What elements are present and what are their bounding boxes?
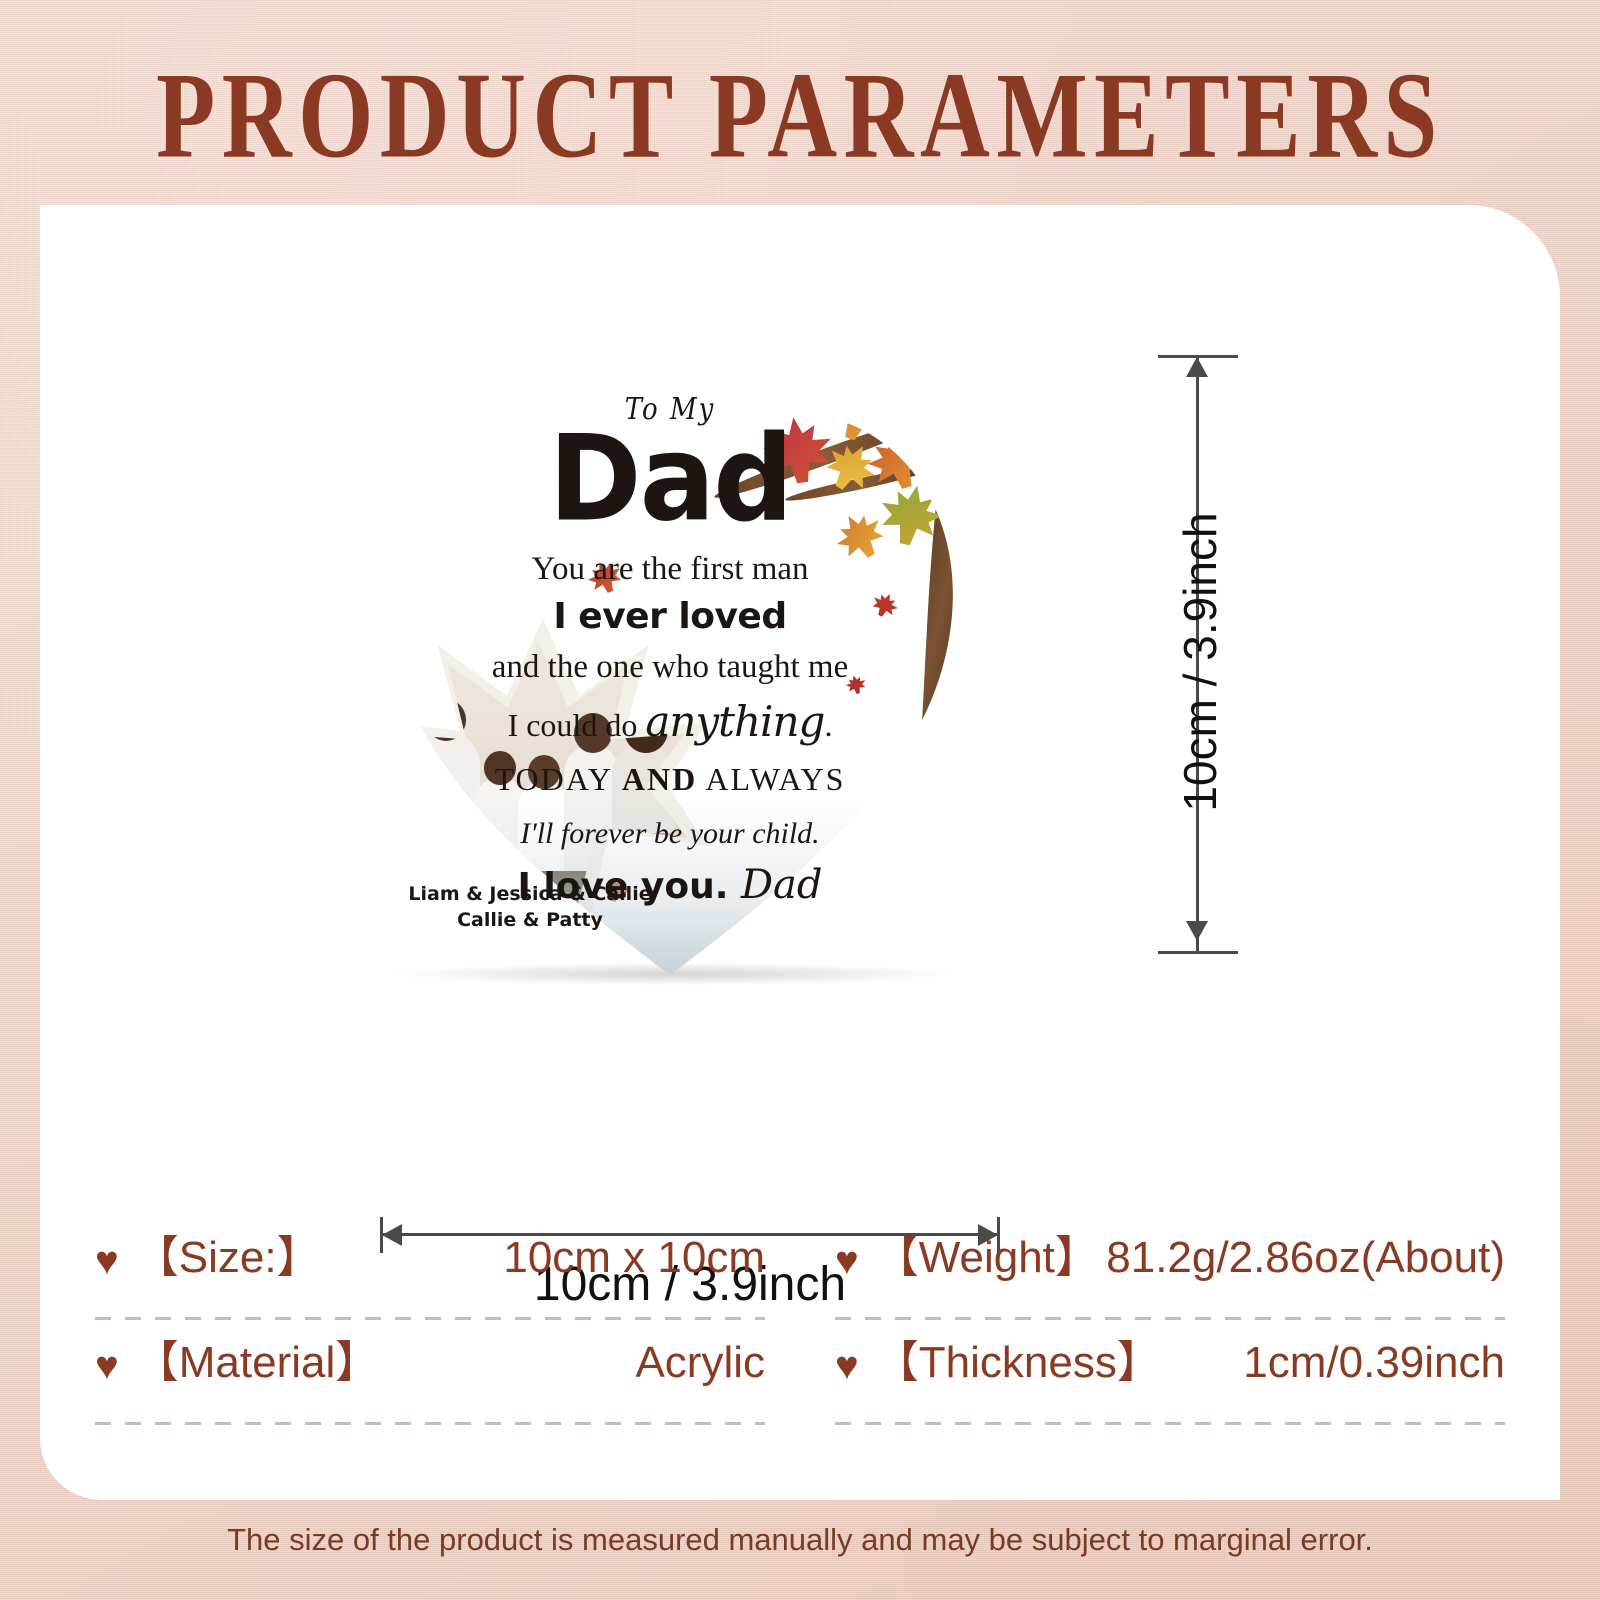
heart-acrylic-plaque: To My Dad You are the first man I ever l… [360, 335, 980, 975]
spec-row: ♥ 【Weight】 81.2g/2.86oz(About) [835, 1221, 1505, 1317]
spec-row: ♥ 【Material】 Acrylic [95, 1326, 765, 1422]
product-stage: To My Dad You are the first man I ever l… [40, 205, 1560, 1105]
spec-cell-material: ♥ 【Material】 Acrylic [95, 1320, 765, 1425]
heart-icon: ♥ [95, 1241, 119, 1281]
plaque-line-5-b: AND [622, 761, 697, 797]
page-title: PRODUCT PARAMETERS [56, 55, 1544, 178]
height-arrow-down-icon [1186, 921, 1208, 941]
plaque-line-5-c: ALWAYS [697, 761, 845, 797]
plaque-names-line-1: Liam & Jessica & Callie [380, 883, 680, 905]
spec-value: Acrylic [635, 1338, 765, 1388]
plaque-line-6: I'll forever be your child. [360, 819, 980, 849]
plaque-line-3: and the one who taught me [360, 651, 980, 684]
spec-divider [835, 1422, 1505, 1425]
spec-cell-thickness: ♥ 【Thickness】 1cm/0.39inch [835, 1320, 1505, 1425]
spec-key: 【Thickness】 [875, 1326, 1161, 1390]
plaque-line-4-prefix: I could do [508, 707, 646, 743]
plaque-line-4: I could do anything. [360, 701, 980, 743]
spec-value: 1cm/0.39inch [1243, 1338, 1505, 1388]
height-label: 10cm / 3.9inch [1173, 412, 1227, 912]
plaque-line-4-suffix: . [824, 707, 832, 743]
specification-table: ♥ 【Size:】 10cm x 10cm ♥ 【Weight】 81.2g/2… [95, 1215, 1505, 1425]
heart-icon: ♥ [835, 1346, 859, 1386]
plaque-line-2: I ever loved [360, 599, 980, 635]
plaque-line-4-script: anything [645, 697, 824, 746]
spec-cell-size: ♥ 【Size:】 10cm x 10cm [95, 1215, 765, 1320]
heart-icon: ♥ [95, 1346, 119, 1386]
spec-value: 81.2g/2.86oz(About) [1106, 1233, 1505, 1283]
plaque-signature: Dad [741, 862, 823, 908]
heart-icon: ♥ [835, 1241, 859, 1281]
spec-row: ♥ 【Size:】 10cm x 10cm [95, 1221, 765, 1317]
spec-key: 【Size:】 [135, 1221, 321, 1285]
plaque-line-5-a: TODAY [495, 761, 622, 797]
spec-key: 【Weight】 [875, 1221, 1099, 1285]
plaque-line-1: You are the first man [360, 553, 980, 586]
spec-row: ♥ 【Thickness】 1cm/0.39inch [835, 1326, 1505, 1422]
spec-key: 【Material】 [135, 1326, 380, 1390]
spec-value: 10cm x 10cm [503, 1233, 765, 1283]
spec-cell-weight: ♥ 【Weight】 81.2g/2.86oz(About) [835, 1215, 1505, 1320]
plaque-names-line-2: Callie & Patty [380, 909, 680, 931]
plaque-line-5: TODAY AND ALWAYS [360, 763, 980, 795]
height-arrow-up-icon [1186, 357, 1208, 377]
content-card: To My Dad You are the first man I ever l… [40, 205, 1560, 1500]
spec-divider [95, 1422, 765, 1425]
footer-note: The size of the product is measured manu… [0, 1522, 1600, 1558]
height-dimension: 10cm / 3.9inch [1140, 345, 1270, 965]
plaque-headline: Dad [360, 420, 980, 539]
plaque-message: To My Dad You are the first man I ever l… [360, 335, 980, 975]
